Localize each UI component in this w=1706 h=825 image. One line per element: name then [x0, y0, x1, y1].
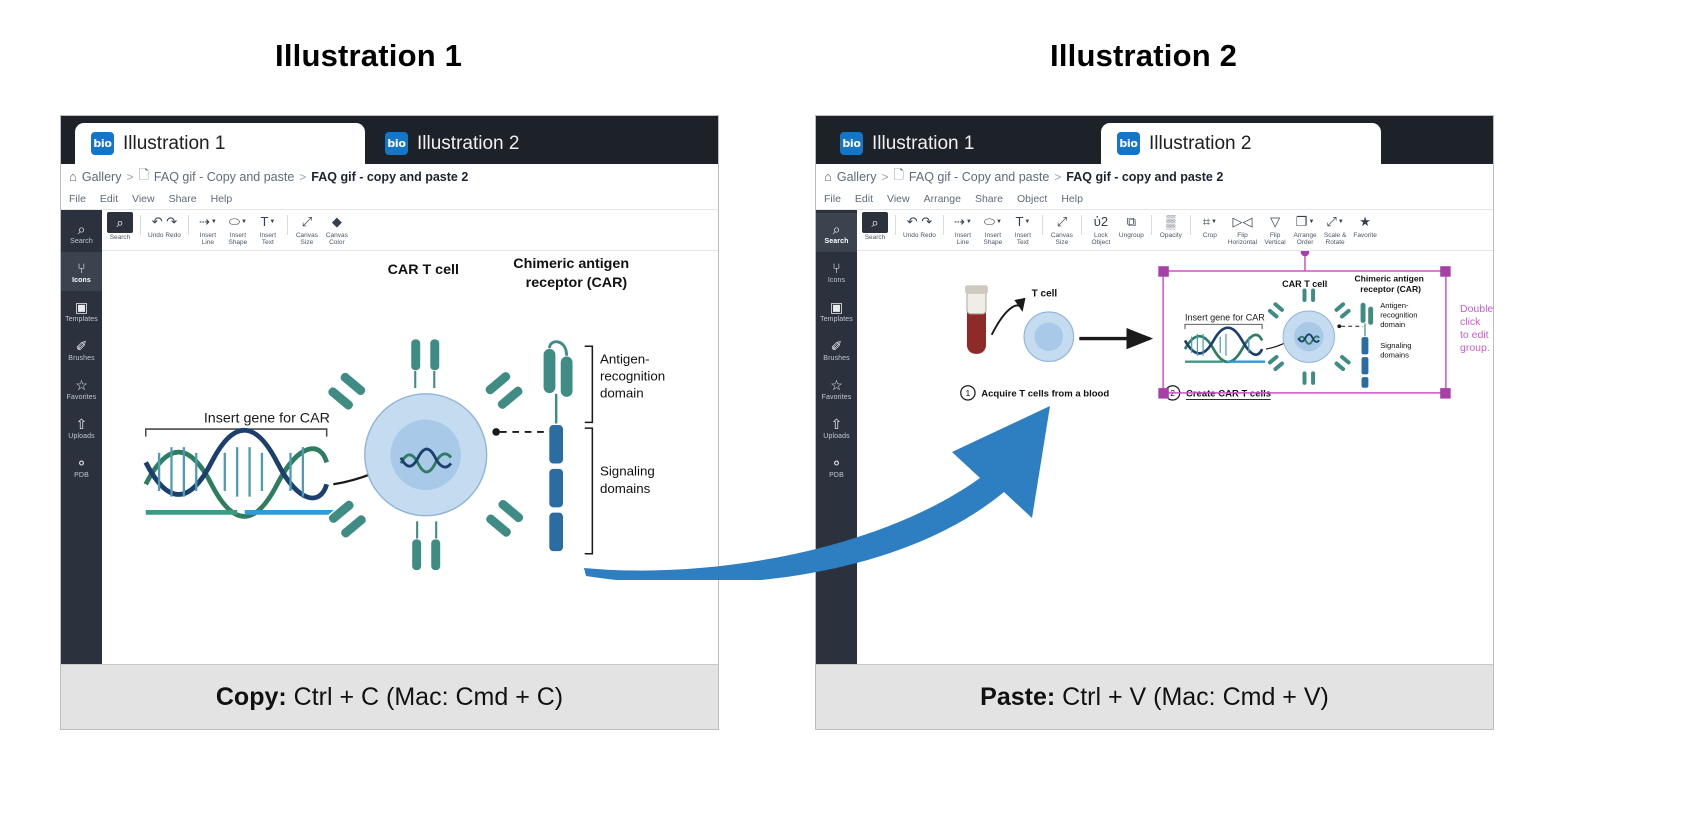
home-icon[interactable]: ⌂ — [69, 170, 77, 183]
toolbar-separator — [943, 215, 944, 235]
caption-paste: Paste: Ctrl + V (Mac: Cmd + V) — [816, 664, 1493, 729]
chevron-down-icon[interactable]: ▼ — [966, 219, 972, 225]
caption-strong-2: Paste: — [980, 683, 1055, 711]
undo-redo-icon: ↶ ↷ — [907, 212, 932, 231]
toolbar-button-search[interactable]: ⌕Search — [859, 212, 891, 241]
toolbar-button-label: Insert Shape — [983, 232, 1002, 247]
toolbar-separator — [895, 215, 896, 235]
chevron-down-icon[interactable]: ▼ — [241, 219, 247, 225]
menu-bar-1: FileEditViewShareHelp — [61, 189, 718, 210]
rotate-handle[interactable] — [1296, 251, 1313, 256]
toolbar-button-label: Opacity — [1160, 232, 1182, 239]
toolbar-1: ⌕Search↶ ↷Undo Redo⇢▼Insert Line⬭▼Insert… — [102, 210, 718, 251]
car-t-cell-body-1 — [365, 394, 487, 516]
sidebar-item-label: Templates — [65, 316, 98, 323]
car-t-cell-body-2 — [1283, 311, 1334, 362]
menu-item-edit[interactable]: Edit — [100, 193, 118, 205]
car-t-cell-label-2: CAR T cell — [1282, 279, 1327, 289]
menu-item-view[interactable]: View — [132, 193, 155, 205]
menu-item-share[interactable]: Share — [169, 193, 197, 205]
domain-label-antigen-2: recognition — [600, 368, 665, 383]
receptor-callout-line-2 — [1337, 324, 1363, 328]
dna-label-2: Insert gene for CAR — [1185, 313, 1265, 323]
toolbar-button-insert-text[interactable]: T▼Insert Text — [1008, 212, 1038, 247]
domain-label-antigen-3: domain — [600, 386, 644, 401]
chevron-down-icon[interactable]: ▼ — [211, 219, 217, 225]
sidebar-item-label: PDB — [74, 472, 89, 479]
svg-text:1: 1 — [966, 388, 971, 398]
ungroup-icon: ⧉ — [1127, 212, 1136, 231]
svg-text:Create CAR T cells: Create CAR T cells — [1186, 389, 1271, 400]
menu-item-file[interactable]: File — [69, 193, 86, 205]
tab-label: Illustration 1 — [872, 133, 974, 155]
domain-label-antigen-1: Antigen- — [600, 351, 650, 366]
breadcrumb-1: ⌂ Gallery > 🗋 FAQ gif - Copy and paste >… — [61, 164, 718, 189]
receptor-title-line1-2: Chimeric antigen — [1354, 273, 1423, 283]
toolbar-button-label: Undo Redo — [903, 232, 936, 239]
menu-item-help[interactable]: Help — [1061, 193, 1083, 205]
sidebar-item-search[interactable]: ⌕Search — [61, 213, 102, 252]
tab-illustration-1[interactable]: bio Illustration 1 — [824, 123, 1104, 164]
tab-illustration-2[interactable]: bio Illustration 2 — [369, 123, 609, 164]
sidebar-item-search[interactable]: ⌕Search — [816, 213, 857, 252]
toolbar-separator — [140, 215, 141, 235]
sidebar-item-label: Search — [70, 238, 93, 245]
home-icon[interactable]: ⌂ — [824, 170, 832, 183]
toolbar-button-label: Flip Horizontal — [1228, 232, 1257, 247]
toolbar-button-ungroup[interactable]: ⧉Ungroup — [1116, 212, 1147, 239]
dna-helix-1 — [146, 430, 336, 516]
toolbar-button-label: Search — [110, 234, 131, 241]
favorite-icon: ★ — [1359, 212, 1371, 231]
car-receptor-detail-2 — [1360, 302, 1373, 388]
search-icon: ⌕ — [833, 221, 841, 237]
dna-label-1: Insert gene for CAR — [204, 410, 330, 426]
selection-handle-tl[interactable] — [1158, 266, 1168, 276]
undo-redo-icon: ↶ ↷ — [152, 212, 177, 231]
sidebar-item-label: Brushes — [823, 355, 849, 362]
menu-item-arrange[interactable]: Arrange — [924, 193, 961, 205]
sidebar-item-pdb[interactable]: ⚬PDB — [61, 447, 102, 486]
molecule-icon: ⑂ — [77, 260, 85, 276]
toolbar-button-label: Flip Vertical — [1264, 232, 1285, 247]
biorender-logo-icon: bio — [840, 132, 863, 155]
sidebar-item-icons[interactable]: ⑂Icons — [61, 252, 102, 291]
toolbar-button-label: Canvas Size — [1051, 232, 1073, 247]
car-receptor-detail-1 — [543, 342, 573, 552]
toolbar-button-crop[interactable]: ⌗▼Crop — [1195, 212, 1225, 239]
figure-title-1: Illustration 1 — [275, 38, 462, 74]
chevron-down-icon[interactable]: ▼ — [1338, 219, 1344, 225]
toolbar-button-label: Search — [865, 234, 886, 241]
sidebar-item-brushes[interactable]: ✐Brushes — [61, 330, 102, 369]
sidebar-item-label: Templates — [820, 316, 853, 323]
chevron-down-icon[interactable]: ▼ — [1308, 219, 1314, 225]
toolbar-button-favorite[interactable]: ★Favorite — [1350, 212, 1380, 239]
flip-horizontal-icon: ▷◁ — [1232, 212, 1252, 231]
sidebar-item-label: Uploads — [68, 433, 94, 440]
selection-handle-br[interactable] — [1440, 388, 1450, 398]
breadcrumb-folder[interactable]: FAQ gif - Copy and paste — [154, 170, 294, 184]
toolbar-button-flip-vertical[interactable]: ▽Flip Vertical — [1260, 212, 1290, 247]
folder-icon: 🗋 — [138, 166, 148, 188]
toolbar-button-label: Favorite — [1353, 232, 1376, 239]
biorender-logo-icon: bio — [91, 132, 114, 155]
sidebar-item-favorites[interactable]: ☆Favorites — [61, 369, 102, 408]
menu-item-object[interactable]: Object — [1017, 193, 1047, 205]
toolbar-button-insert-shape[interactable]: ⬭▼Insert Shape — [223, 212, 253, 247]
insert-shape-icon: ⬭▼ — [984, 212, 1002, 231]
toolbar-button-canvas-size[interactable]: ⤢Canvas Size — [1047, 212, 1077, 247]
toolbar-button-label: Arrange Order — [1294, 232, 1317, 247]
tab-illustration-2[interactable]: bio Illustration 2 — [1101, 123, 1381, 164]
illustration-comparison-figure: Illustration 1 Illustration 2 bio Illust… — [0, 0, 1706, 825]
chevron-down-icon[interactable]: ▼ — [1024, 219, 1030, 225]
toolbar-button-label: Crop — [1203, 232, 1217, 239]
templates-icon: ▣ — [75, 299, 88, 315]
sidebar-item-brushes[interactable]: ✐Brushes — [816, 330, 857, 369]
templates-icon: ▣ — [830, 299, 843, 315]
breadcrumb-separator: > — [1054, 170, 1061, 184]
toolbar-separator — [287, 215, 288, 235]
insert-text-icon: T▼ — [1015, 212, 1030, 231]
star-icon: ☆ — [75, 377, 88, 393]
toolbar-button-label: Canvas Size — [296, 232, 318, 247]
tab-label: Illustration 2 — [417, 133, 519, 155]
breadcrumb-folder[interactable]: FAQ gif - Copy and paste — [909, 170, 1049, 184]
sidebar-item-templates[interactable]: ▣Templates — [816, 291, 857, 330]
canvas-size-icon: ⤢ — [1057, 212, 1067, 231]
caption-strong-1: Copy: — [216, 683, 287, 711]
sidebar-item-label: Search — [825, 238, 849, 245]
selection-handle-tr[interactable] — [1440, 266, 1450, 276]
car-t-cell-label-1: CAR T cell — [388, 262, 459, 278]
toolbar-button-search[interactable]: ⌕Search — [104, 212, 136, 241]
toolbar-separator — [1081, 215, 1082, 235]
toolbar-button-undo-redo[interactable]: ↶ ↷Undo Redo — [145, 212, 184, 239]
domain-label-antigen-2-2: recognition — [1380, 311, 1417, 320]
menu-item-help[interactable]: Help — [211, 193, 233, 205]
toolbar-button-undo-redo[interactable]: ↶ ↷Undo Redo — [900, 212, 939, 239]
t-cell-label: T cell — [1032, 289, 1058, 300]
toolbar-button-opacity[interactable]: ▒Opacity — [1156, 212, 1186, 239]
domain-label-antigen-3-2: domain — [1380, 320, 1405, 329]
chevron-down-icon[interactable]: ▼ — [269, 219, 275, 225]
toolbar-button-insert-line[interactable]: ⇢▼Insert Line — [193, 212, 223, 247]
toolbar-button-flip-horizontal[interactable]: ▷◁Flip Horizontal — [1225, 212, 1260, 247]
receptor-title-line2-2: receptor (CAR) — [1360, 284, 1421, 294]
toolbar-button-label: Insert Text — [260, 232, 276, 247]
caption-rest-1: Ctrl + C (Mac: Cmd + C) — [287, 683, 563, 711]
breadcrumb-current: FAQ gif - copy and paste 2 — [311, 170, 468, 184]
menu-item-share[interactable]: Share — [975, 193, 1003, 205]
menu-item-edit[interactable]: Edit — [855, 193, 873, 205]
breadcrumb-home[interactable]: Gallery — [837, 170, 877, 184]
toolbar-button-label: Ungroup — [1119, 232, 1144, 239]
domain-label-signaling-2-2: domains — [1380, 351, 1409, 360]
sidebar-item-label: Brushes — [68, 355, 94, 362]
upload-icon: ⇧ — [76, 416, 88, 432]
brush-icon: ✐ — [831, 338, 843, 354]
lock-icon: ὑ2 — [1094, 212, 1108, 231]
menu-item-view[interactable]: View — [887, 193, 910, 205]
molecule-icon: ⑂ — [832, 260, 840, 276]
breadcrumb-separator: > — [126, 170, 133, 184]
blood-tube-icon — [965, 285, 988, 354]
caption-copy: Copy: Ctrl + C (Mac: Cmd + C) — [61, 664, 718, 729]
arrange-order-icon: ❐▼ — [1296, 212, 1315, 231]
insert-line-icon: ⇢▼ — [199, 212, 217, 231]
sidebar-item-uploads[interactable]: ⇧Uploads — [61, 408, 102, 447]
caption-rest-2: Ctrl + V (Mac: Cmd + V) — [1055, 683, 1329, 711]
tab-bar-2: bio Illustration 1 bio Illustration 2 — [816, 116, 1493, 164]
copy-paste-flow-arrow — [580, 400, 1140, 580]
sidebar-item-icons[interactable]: ⑂Icons — [816, 252, 857, 291]
toolbar-button-arrange-order[interactable]: ❐▼Arrange Order — [1290, 212, 1320, 247]
tab-illustration-1[interactable]: bio Illustration 1 — [75, 123, 365, 164]
toolbar-button-insert-line[interactable]: ⇢▼Insert Line — [948, 212, 978, 247]
sidebar-item-label: Icons — [72, 277, 91, 284]
toolbar-button-insert-text[interactable]: T▼Insert Text — [253, 212, 283, 247]
receptor-title-line1: Chimeric antigen — [513, 256, 629, 272]
chevron-down-icon[interactable]: ▼ — [1211, 219, 1217, 225]
breadcrumb-separator: > — [299, 170, 306, 184]
tab-label: Illustration 2 — [1149, 133, 1251, 155]
breadcrumb-2: ⌂ Gallery > 🗋 FAQ gif - Copy and paste >… — [816, 164, 1493, 189]
breadcrumb-separator: > — [881, 170, 888, 184]
biorender-logo-icon: bio — [385, 132, 408, 155]
breadcrumb-home[interactable]: Gallery — [82, 170, 122, 184]
sidebar-item-label: Icons — [828, 277, 845, 284]
breadcrumb-current: FAQ gif - copy and paste 2 — [1066, 170, 1223, 184]
canvas-size-icon: ⤢ — [302, 212, 312, 231]
menu-bar-2: FileEditViewArrangeShareObjectHelp — [816, 189, 1493, 210]
toolbar-button-label: Insert Line — [955, 232, 971, 247]
dna-helix-2 — [1185, 328, 1265, 363]
toolbar-separator — [1151, 215, 1152, 235]
toolbar-button-label: Undo Redo — [148, 232, 181, 239]
search-icon: ⌕ — [862, 212, 888, 233]
tab-bar-1: bio Illustration 1 bio Illustration 2 — [61, 116, 718, 164]
menu-item-file[interactable]: File — [824, 193, 841, 205]
selection-handle-bl[interactable] — [1158, 388, 1168, 398]
folder-icon: 🗋 — [893, 166, 903, 188]
toolbar-button-label: Insert Text — [1015, 232, 1031, 247]
toolbar-2: ⌕Search↶ ↷Undo Redo⇢▼Insert Line⬭▼Insert… — [857, 210, 1493, 251]
search-icon: ⌕ — [78, 221, 86, 237]
tab-label: Illustration 1 — [123, 133, 225, 155]
domain-label-signaling-1-2: Signaling — [1380, 341, 1411, 350]
toolbar-button-label: Insert Line — [200, 232, 216, 247]
toolbar-separator — [1042, 215, 1043, 235]
insert-shape-icon: ⬭▼ — [229, 212, 247, 231]
chevron-down-icon[interactable]: ▼ — [996, 219, 1002, 225]
arrow-blood-to-tcell — [992, 305, 1022, 334]
biorender-logo-icon: bio — [1117, 132, 1140, 155]
toolbar-button-label: Insert Shape — [228, 232, 247, 247]
scale-rotate-icon: ⤢▼ — [1326, 212, 1343, 231]
sidebar-1: ⌕Search⑂Icons▣Templates✐Brushes☆Favorite… — [61, 210, 102, 729]
star-icon: ☆ — [830, 377, 843, 393]
toolbar-button-label: Scale & Rotate — [1324, 232, 1346, 247]
search-icon: ⌕ — [107, 212, 133, 233]
receptor-title-line2: receptor (CAR) — [526, 275, 628, 291]
toolbar-button-scale-rotate[interactable]: ⤢▼Scale & Rotate — [1320, 212, 1350, 247]
pdb-icon: ⚬ — [76, 455, 88, 471]
toolbar-button-label: Lock Object — [1091, 232, 1110, 247]
toolbar-button-insert-shape[interactable]: ⬭▼Insert Shape — [978, 212, 1008, 247]
sidebar-item-templates[interactable]: ▣Templates — [61, 291, 102, 330]
receptor-callout-line-1 — [492, 428, 546, 436]
sidebar-item-label: Favorites — [67, 394, 97, 401]
insert-line-icon: ⇢▼ — [954, 212, 972, 231]
crop-icon: ⌗▼ — [1203, 212, 1217, 231]
figure-title-2: Illustration 2 — [1050, 38, 1237, 74]
brush-icon: ✐ — [76, 338, 88, 354]
step-1-caption: 1 Acquire T cells from a blood — [961, 386, 1110, 400]
domain-label-antigen-1-2: Antigen- — [1380, 301, 1409, 310]
edit-group-tooltip: Double click to edit group. — [1460, 303, 1493, 356]
toolbar-button-canvas-size[interactable]: ⤢Canvas Size — [292, 212, 322, 247]
toolbar-separator — [188, 215, 189, 235]
pasted-illustration-group[interactable]: Insert gene for CAR — [1185, 273, 1424, 388]
t-cell-icon — [1024, 312, 1074, 362]
toolbar-button-canvas-color[interactable]: ◆Canvas Color — [322, 212, 352, 247]
toolbar-separator — [1190, 215, 1191, 235]
insert-text-icon: T▼ — [260, 212, 275, 231]
toolbar-button-lock-object[interactable]: ὑ2Lock Object — [1086, 212, 1116, 247]
svg-text:Acquire T cells from a blood: Acquire T cells from a blood — [981, 389, 1109, 400]
canvas-color-icon: ◆ — [332, 212, 342, 231]
opacity-icon: ▒ — [1166, 212, 1175, 231]
flip-vertical-icon: ▽ — [1270, 212, 1280, 231]
toolbar-button-label: Canvas Color — [326, 232, 348, 247]
